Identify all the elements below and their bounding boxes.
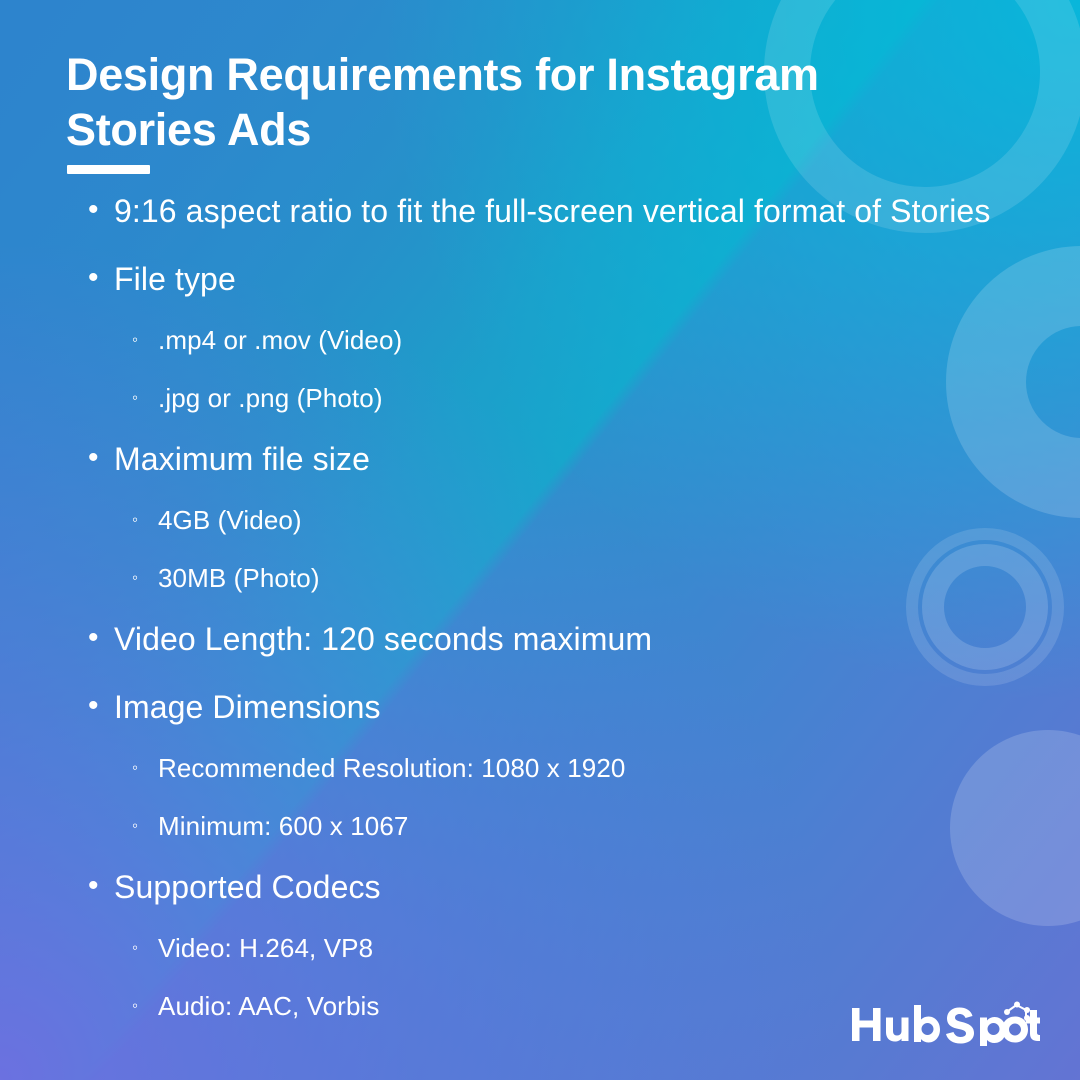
bullet-disc-icon: • xyxy=(88,440,114,476)
title-underline-rule xyxy=(67,165,150,174)
list-item: • Image Dimensions xyxy=(66,688,1046,726)
list-item: • Supported Codecs xyxy=(66,868,1046,906)
bullet-circle-icon: ◦ xyxy=(132,810,158,842)
list-item-label: Maximum file size xyxy=(114,440,370,478)
bullet-disc-icon: • xyxy=(88,620,114,656)
bullet-circle-icon: ◦ xyxy=(132,324,158,356)
sub-list: ◦ Recommended Resolution: 1080 x 1920 ◦ … xyxy=(66,752,1046,842)
list-item: • Maximum file size xyxy=(66,440,1046,478)
sub-list-item: ◦ Recommended Resolution: 1080 x 1920 xyxy=(66,752,1046,784)
list-item-label: Image Dimensions xyxy=(114,688,381,726)
bullet-disc-icon: • xyxy=(88,868,114,904)
sub-list: ◦ 4GB (Video) ◦ 30MB (Photo) xyxy=(66,504,1046,594)
bullet-circle-icon: ◦ xyxy=(132,382,158,414)
sub-list-item: ◦ .jpg or .png (Photo) xyxy=(66,382,1046,414)
list-item-label: 9:16 aspect ratio to fit the full-screen… xyxy=(114,192,990,230)
sub-list-item-label: .mp4 or .mov (Video) xyxy=(158,324,402,356)
sub-list-item-label: 4GB (Video) xyxy=(158,504,302,536)
sub-list-item-label: Recommended Resolution: 1080 x 1920 xyxy=(158,752,625,784)
bullet-circle-icon: ◦ xyxy=(132,990,158,1022)
list-item: • 9:16 aspect ratio to fit the full-scre… xyxy=(66,192,1046,230)
poster-content: Design Requirements for Instagram Storie… xyxy=(0,0,1080,1080)
sub-list-item: ◦ Video: H.264, VP8 xyxy=(66,932,1046,964)
sub-list-item: ◦ 4GB (Video) xyxy=(66,504,1046,536)
bullet-disc-icon: • xyxy=(88,688,114,724)
requirements-list: • 9:16 aspect ratio to fit the full-scre… xyxy=(66,192,1046,1048)
list-item-label: Video Length: 120 seconds maximum xyxy=(114,620,652,658)
bullet-disc-icon: • xyxy=(88,192,114,228)
hubspot-logo xyxy=(850,1000,1040,1046)
sub-list-item-label: Audio: AAC, Vorbis xyxy=(158,990,379,1022)
bullet-disc-icon: • xyxy=(88,260,114,296)
sub-list: ◦ .mp4 or .mov (Video) ◦ .jpg or .png (P… xyxy=(66,324,1046,414)
sub-list-item: ◦ 30MB (Photo) xyxy=(66,562,1046,594)
sub-list-item-label: .jpg or .png (Photo) xyxy=(158,382,383,414)
bullet-circle-icon: ◦ xyxy=(132,932,158,964)
poster-canvas: Design Requirements for Instagram Storie… xyxy=(0,0,1080,1080)
sub-list-item: ◦ Minimum: 600 x 1067 xyxy=(66,810,1046,842)
list-item-label: Supported Codecs xyxy=(114,868,381,906)
sub-list-item-label: 30MB (Photo) xyxy=(158,562,320,594)
list-item: • Video Length: 120 seconds maximum xyxy=(66,620,1046,658)
bullet-circle-icon: ◦ xyxy=(132,562,158,594)
page-title: Design Requirements for Instagram Storie… xyxy=(66,48,946,158)
sub-list-item-label: Minimum: 600 x 1067 xyxy=(158,810,408,842)
list-item-label: File type xyxy=(114,260,236,298)
bullet-circle-icon: ◦ xyxy=(132,752,158,784)
sub-list-item-label: Video: H.264, VP8 xyxy=(158,932,373,964)
bullet-circle-icon: ◦ xyxy=(132,504,158,536)
sub-list-item: ◦ .mp4 or .mov (Video) xyxy=(66,324,1046,356)
list-item: • File type xyxy=(66,260,1046,298)
